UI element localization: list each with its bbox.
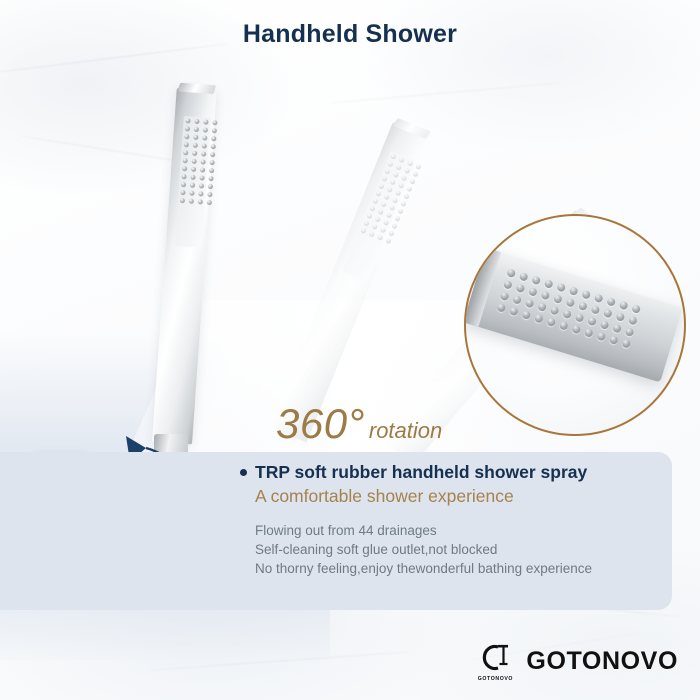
- wand-nozzle-grid: [180, 118, 218, 205]
- bullet-point-icon: [240, 469, 247, 476]
- feature-headline: TRP soft rubber handheld shower spray: [255, 462, 587, 483]
- feature-subheadline: A comfortable shower experience: [255, 486, 670, 507]
- shower-face-closeup: [464, 248, 683, 383]
- wand-top-cap: [177, 83, 216, 94]
- feature-detail-list: Flowing out from 44 drainages Self-clean…: [255, 521, 670, 578]
- feature-panel-content: TRP soft rubber handheld shower spray A …: [240, 462, 670, 578]
- feature-headline-row: TRP soft rubber handheld shower spray: [240, 462, 670, 483]
- brand-logo: GOTONOVO GOTONOVO: [475, 640, 678, 682]
- feature-detail-line: Self-cleaning soft glue outlet,not block…: [255, 540, 670, 559]
- page-title: Handheld Shower: [0, 20, 700, 49]
- detail-inset-circle: [464, 214, 686, 436]
- monogram-caption: GOTONOVO: [475, 676, 515, 682]
- gotonovo-monogram-icon: GOTONOVO: [475, 640, 515, 682]
- rotation-label: rotation: [369, 418, 442, 443]
- brand-wordmark: GOTONOVO: [526, 647, 678, 676]
- marble-vein: [330, 82, 559, 104]
- feature-detail-line: Flowing out from 44 drainages: [255, 521, 670, 540]
- rotation-callout: 360°rotation: [276, 400, 442, 448]
- rotation-degrees: 360°: [276, 400, 365, 447]
- feature-detail-line: No thorny feeling,enjoy thewonderful bat…: [255, 559, 670, 578]
- product-marketing-image: Handheld Shower: [0, 0, 700, 700]
